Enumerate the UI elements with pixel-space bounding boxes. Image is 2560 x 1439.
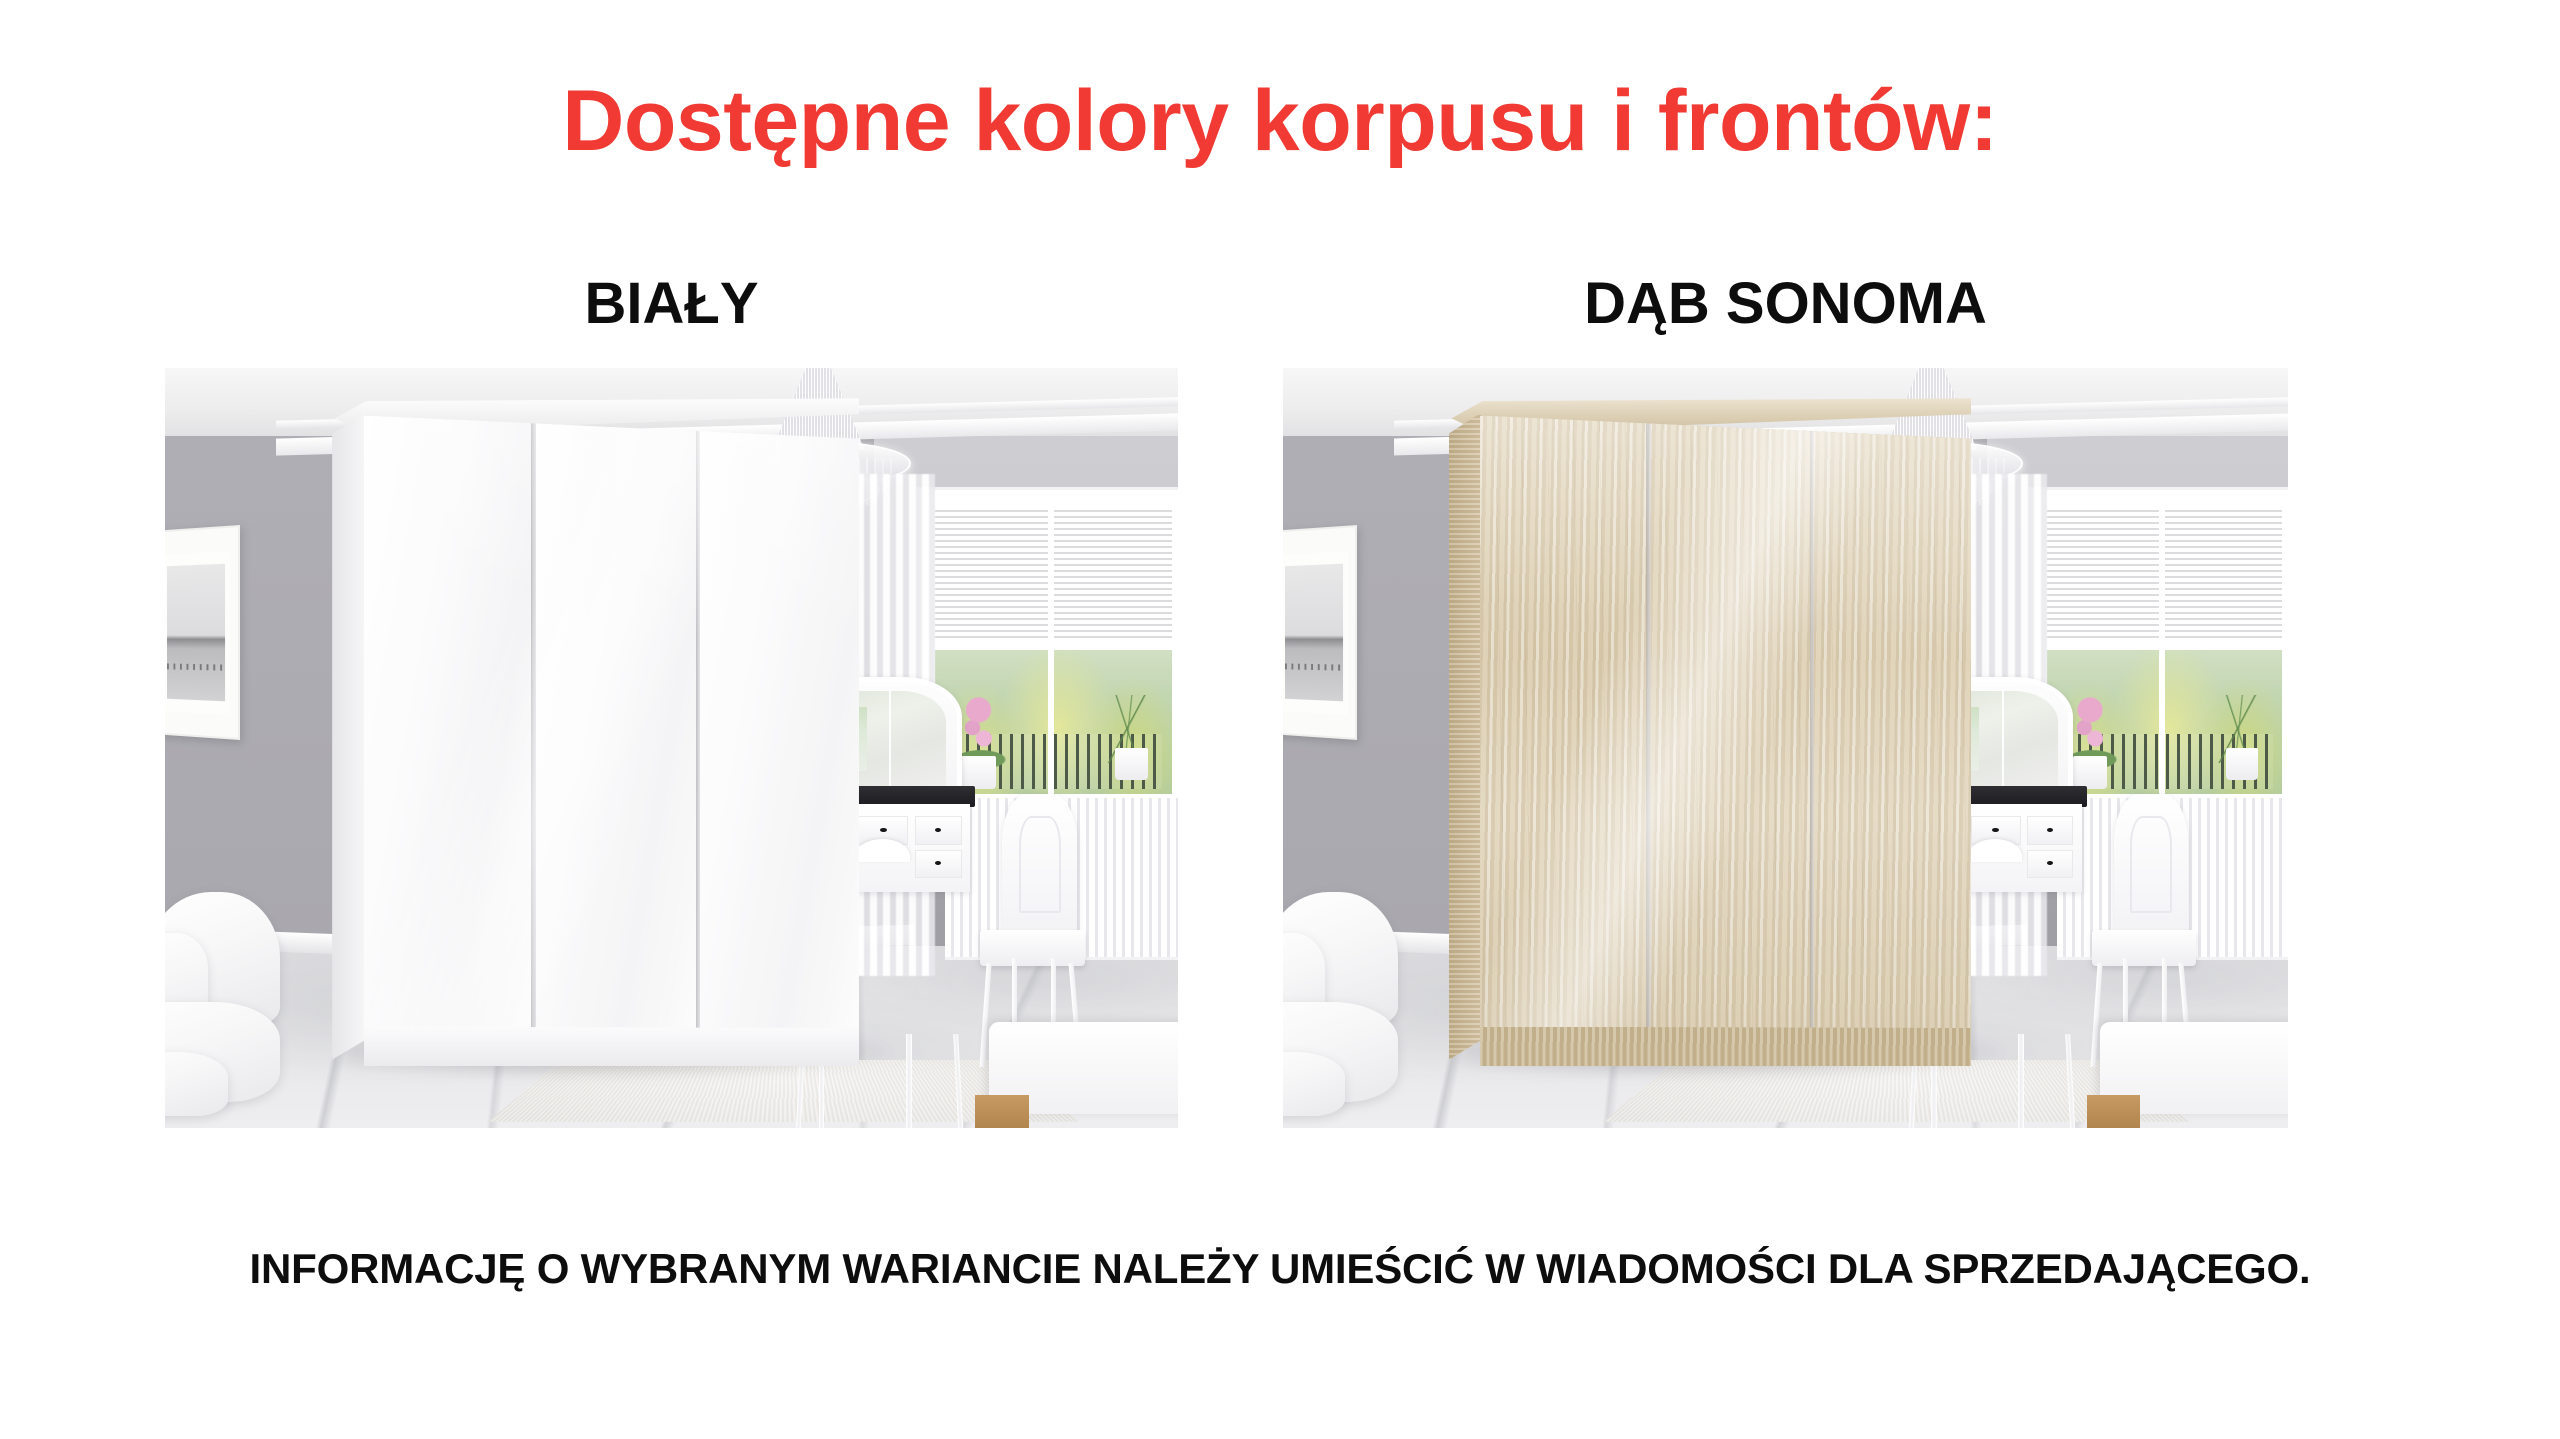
drawer-knob xyxy=(2047,828,2053,832)
chair-seat xyxy=(980,930,1085,966)
wardrobe-door-right xyxy=(699,416,858,1060)
bedroom-scene-white xyxy=(165,368,1178,1128)
wardrobe-door-right xyxy=(1813,416,1971,1060)
drawer-knob xyxy=(880,828,887,832)
white-armchair xyxy=(165,892,317,1120)
variant-label-white: BIAŁY xyxy=(165,275,1178,333)
window-mullion-horizontal xyxy=(2044,640,2284,650)
window-mullion-horizontal xyxy=(932,640,1174,650)
picture-mat xyxy=(1283,550,1348,714)
armchair-front xyxy=(165,1052,228,1116)
vanity-drawer xyxy=(915,850,962,878)
variant-photo-white[interactable] xyxy=(165,368,1178,1128)
window-mullion-vertical xyxy=(2159,506,2165,814)
framed-landscape-picture xyxy=(1283,525,1357,740)
wardrobe-door-middle xyxy=(1649,416,1812,1060)
white-armchair xyxy=(1283,892,1434,1120)
footer-instruction: INFORMACJĘ O WYBRANYM WARIANCIE NALEŻY U… xyxy=(0,1248,2560,1290)
bed-corner xyxy=(975,1022,1178,1128)
framed-landscape-picture xyxy=(165,525,240,740)
door-gap xyxy=(1810,416,1814,1060)
chair-backrest xyxy=(1002,794,1077,936)
sill-plant-pot xyxy=(2226,748,2258,780)
door-gap xyxy=(1646,416,1650,1060)
product-color-options-banner: Dostępne kolory korpusu i frontów: BIAŁY… xyxy=(0,0,2560,1439)
picture-photo xyxy=(167,564,225,701)
wardrobe-side-panel xyxy=(332,413,365,1060)
chair-leg xyxy=(2162,958,2167,1029)
sliding-wardrobe-white xyxy=(332,398,859,1059)
vanity-drawer xyxy=(2027,850,2073,878)
door-gap xyxy=(696,416,700,1060)
chair-leg xyxy=(2123,958,2128,1029)
bed-corner xyxy=(2087,1022,2288,1128)
sill-plant-pot xyxy=(1115,748,1147,780)
drawer-knob xyxy=(1992,828,1999,832)
wardrobe-door-left xyxy=(1480,416,1647,1060)
orchid-pot xyxy=(2073,756,2107,789)
vanity-drawer xyxy=(2027,816,2073,844)
orchid-pot xyxy=(961,756,995,789)
orchid-flowers xyxy=(2077,695,2103,763)
chair-leg xyxy=(1012,958,1017,1029)
orchid-flowers xyxy=(965,695,991,763)
picture-mat xyxy=(165,550,230,714)
mirror-seam xyxy=(2002,690,2004,799)
mirror-seam xyxy=(889,690,891,799)
page-title: Dostępne kolory korpusu i frontów: xyxy=(0,78,2560,164)
chair-seat xyxy=(2092,930,2196,966)
wardrobe-plinth xyxy=(364,1027,859,1067)
sliding-wardrobe-sonoma-oak xyxy=(1449,398,1972,1059)
vanity-leg xyxy=(906,1034,911,1128)
wardrobe-door-middle xyxy=(534,416,698,1060)
bedroom-scene-sonoma-oak xyxy=(1283,368,2288,1128)
variant-photo-sonoma-oak[interactable] xyxy=(1283,368,2288,1128)
wardrobe-door-left xyxy=(364,416,532,1060)
drawer-knob xyxy=(935,828,941,832)
chair-leg xyxy=(1051,958,1056,1029)
vanity-drawer xyxy=(915,816,962,844)
drawer-knob xyxy=(935,861,941,865)
chair-backrest xyxy=(2114,794,2189,936)
wardrobe-plinth xyxy=(1480,1027,1971,1067)
variant-label-sonoma-oak: DĄB SONOMA xyxy=(1283,275,2288,333)
wardrobe-doors xyxy=(1480,416,1971,1060)
bed-wooden-frame xyxy=(975,1095,1028,1128)
drawer-knob xyxy=(2047,861,2053,865)
wardrobe-doors xyxy=(364,416,859,1060)
bed-wooden-frame xyxy=(2087,1095,2140,1128)
picture-photo xyxy=(1285,564,1343,701)
wardrobe-side-panel xyxy=(1449,413,1481,1060)
door-gap xyxy=(531,416,535,1060)
vanity-leg xyxy=(2018,1034,2023,1128)
window-mullion-vertical xyxy=(1048,506,1054,814)
